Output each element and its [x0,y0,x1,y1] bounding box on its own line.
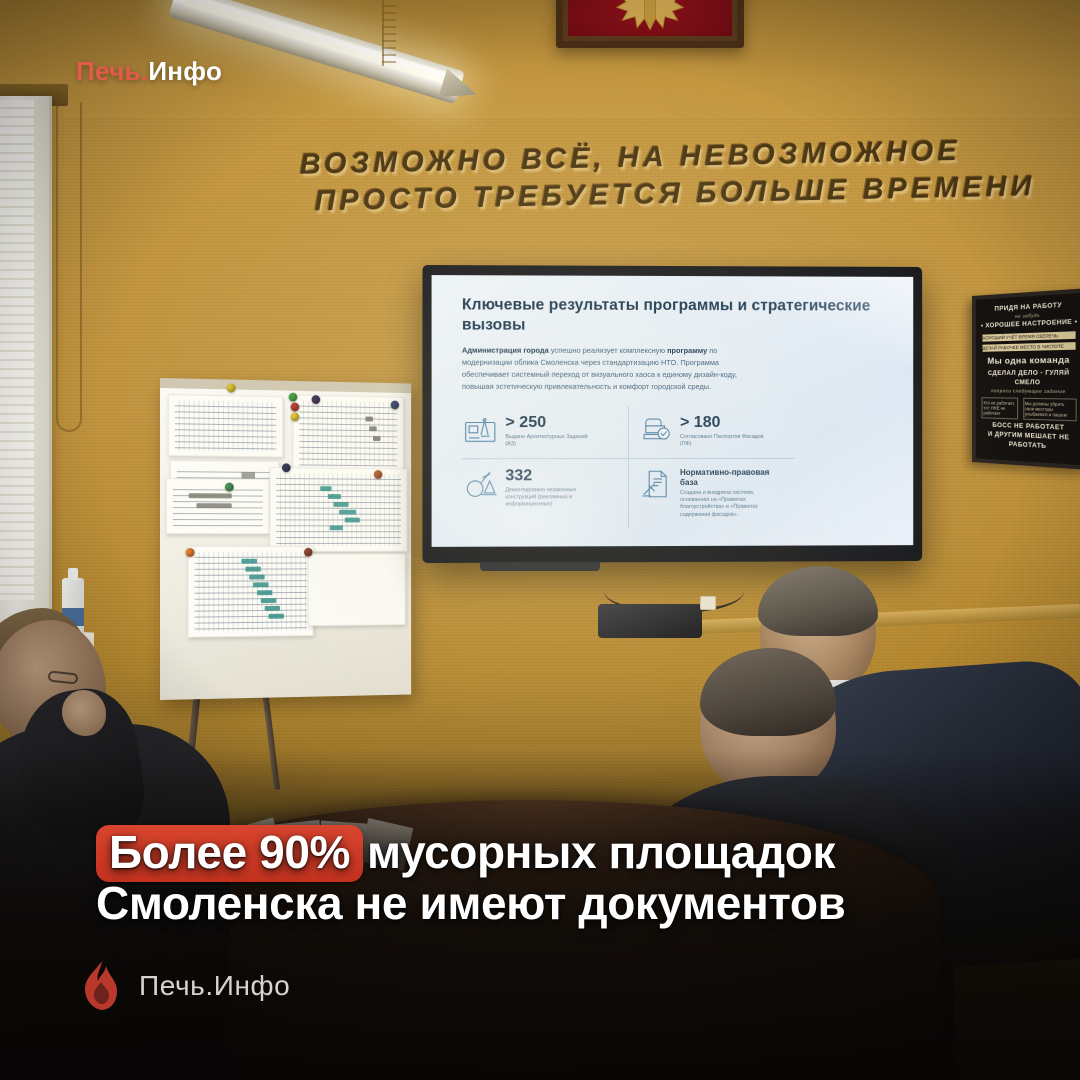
top-watermark-white: Инфо [148,56,222,86]
brand-logo[interactable]: Печь.Инфо [78,960,290,1012]
news-card: ВОЗМОЖНО ВСЁ, НА НЕВОЗМОЖНОЕ ПРОСТО ТРЕБ… [0,0,1080,1080]
headline-line-1: Более 90%мусорных площадок [96,827,1036,879]
brand-name: Печь.Инфо [139,970,290,1002]
top-watermark-red: Печь. [76,56,148,86]
headline-line-1-rest: мусорных площадок [367,826,835,878]
headline: Более 90%мусорных площадок Смоленска не … [96,827,1036,930]
top-watermark: Печь.Инфо [76,56,222,87]
flame-icon [78,960,124,1012]
headline-line-2: Смоленска не имеют документов [96,878,1036,930]
headline-highlight: Более 90% [96,825,363,882]
